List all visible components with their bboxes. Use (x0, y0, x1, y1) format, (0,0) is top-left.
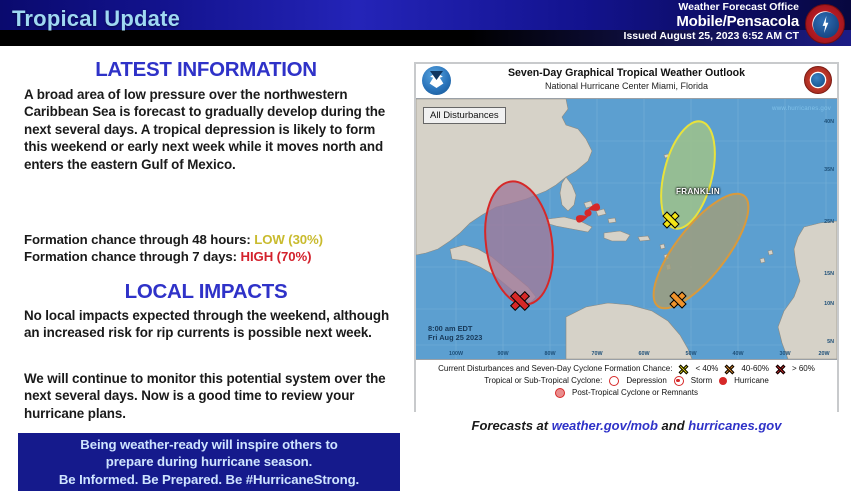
svg-text:80W: 80W (544, 351, 556, 357)
map-longitude-labels: 100W 90W 80W 70W 60W 50W 40W 30W 20W (449, 351, 830, 357)
legend-red-x-icon (776, 365, 785, 374)
legend-storm-label: Storm (691, 375, 712, 387)
preparedness-banner: Being weather-ready will inspire others … (18, 433, 400, 491)
banner-line-2: prepare during hurricane season. (106, 453, 312, 470)
legend-row-cyclone-types: Tropical or Sub-Tropical Cyclone: Depres… (416, 375, 837, 387)
left-content-column: LATEST INFORMATION A broad area of low p… (0, 48, 412, 453)
depression-icon (609, 376, 619, 386)
formation-chance-7d-value: HIGH (70%) (241, 249, 312, 264)
nws-seal-icon (805, 4, 845, 44)
map-watermark: www.hurricanes.gov (772, 105, 831, 112)
map-subtitle: National Hurricane Center Miami, Florida (416, 81, 837, 91)
storm-name-label: FRANKLIN (676, 187, 720, 196)
hurricane-icon (719, 377, 727, 385)
footer-middle: and (658, 418, 688, 433)
latest-information-paragraph: A broad area of low pressure over the no… (24, 86, 396, 173)
legend-yellow-x-icon (679, 365, 688, 374)
svg-text:10N: 10N (824, 301, 834, 307)
legend-high-label: > 60% (792, 363, 815, 375)
tropical-outlook-map-panel: Seven-Day Graphical Tropical Weather Out… (414, 62, 839, 412)
office-block: Weather Forecast Office Mobile/Pensacola… (624, 2, 799, 42)
nhc-seal-icon (804, 66, 832, 94)
all-disturbances-button[interactable]: All Disturbances (423, 107, 506, 124)
svg-text:5N: 5N (827, 339, 834, 345)
svg-text:25N: 25N (824, 219, 834, 225)
map-timestamp-date: Fri Aug 25 2023 (428, 333, 482, 343)
formation-chance-7d-label: Formation chance through 7 days: (24, 249, 237, 264)
legend-row-post-tropical: Post-Tropical Cyclone or Remnants (416, 387, 837, 399)
formation-chance-7d: Formation chance through 7 days: HIGH (7… (24, 249, 311, 264)
svg-text:100W: 100W (449, 351, 464, 357)
office-name: Mobile/Pensacola (624, 14, 799, 31)
formation-chance-48h-label: Formation chance through 48 hours: (24, 232, 251, 247)
legend-depression-label: Depression (626, 375, 666, 387)
legend-medium-label: 40-60% (741, 363, 769, 375)
footer-prefix: Forecasts at (472, 418, 552, 433)
tropical-update-graphic: Tropical Update Weather Forecast Office … (0, 0, 851, 453)
legend-formation-label: Current Disturbances and Seven-Day Cyclo… (438, 363, 672, 375)
issued-timestamp: Issued August 25, 2023 6:52 AM CT (624, 31, 799, 43)
legend-row-formation-chance: Current Disturbances and Seven-Day Cyclo… (416, 363, 837, 375)
svg-text:50W: 50W (685, 351, 697, 357)
hurricanes-gov-link[interactable]: hurricanes.gov (688, 418, 781, 433)
latest-information-heading: LATEST INFORMATION (0, 58, 412, 82)
formation-chance-48h-value: LOW (30%) (254, 232, 323, 247)
svg-text:90W: 90W (497, 351, 509, 357)
local-impacts-heading: LOCAL IMPACTS (0, 280, 412, 304)
map-canvas[interactable]: 100W 90W 80W 70W 60W 50W 40W 30W 20W 40N… (416, 99, 837, 359)
map-graphic: 100W 90W 80W 70W 60W 50W 40W 30W 20W 40N… (416, 99, 837, 359)
svg-text:35N: 35N (824, 167, 834, 173)
formation-chance-48h: Formation chance through 48 hours: LOW (… (24, 232, 323, 247)
weather-gov-link[interactable]: weather.gov/mob (552, 418, 658, 433)
map-title: Seven-Day Graphical Tropical Weather Out… (416, 67, 837, 79)
svg-text:40N: 40N (824, 119, 834, 125)
office-label: Weather Forecast Office (624, 2, 799, 14)
local-impacts-paragraph: No local impacts expected through the we… (24, 307, 396, 342)
storm-icon (674, 376, 684, 386)
svg-text:15N: 15N (824, 271, 834, 277)
page-title: Tropical Update (12, 6, 180, 32)
legend-cyclone-label: Tropical or Sub-Tropical Cyclone: (484, 375, 602, 387)
footer-forecast-links: Forecasts at weather.gov/mob and hurrica… (414, 418, 839, 433)
svg-text:60W: 60W (638, 351, 650, 357)
monitoring-paragraph: We will continue to monitor this potenti… (24, 370, 396, 422)
svg-text:30W: 30W (779, 351, 791, 357)
banner-line-3: Be Informed. Be Prepared. Be #HurricaneS… (59, 471, 359, 488)
legend-post-tropical-label: Post-Tropical Cyclone or Remnants (572, 387, 698, 399)
legend-orange-x-icon (725, 365, 734, 374)
map-landmasses (416, 99, 837, 359)
map-timestamp: 8:00 am EDT Fri Aug 25 2023 (428, 324, 482, 343)
legend-low-label: < 40% (695, 363, 718, 375)
header-bar: Tropical Update Weather Forecast Office … (0, 0, 851, 46)
svg-text:40W: 40W (732, 351, 744, 357)
map-header: Seven-Day Graphical Tropical Weather Out… (416, 64, 837, 99)
post-tropical-icon (555, 388, 565, 398)
legend-hurricane-label: Hurricane (734, 375, 769, 387)
map-legend: Current Disturbances and Seven-Day Cyclo… (416, 359, 837, 415)
svg-text:20W: 20W (818, 351, 830, 357)
map-timestamp-time: 8:00 am EDT (428, 324, 482, 334)
svg-text:70W: 70W (591, 351, 603, 357)
nhc-seal-inner (811, 73, 825, 87)
banner-line-1: Being weather-ready will inspire others … (80, 436, 337, 453)
